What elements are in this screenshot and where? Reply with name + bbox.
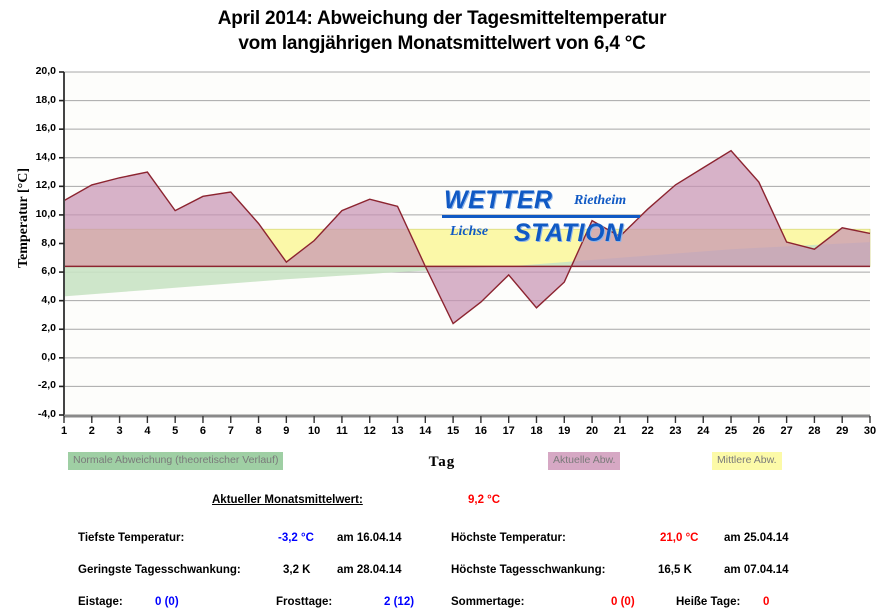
min-range-date: am 28.04.14: [337, 562, 402, 578]
x-tick-day-25: 25: [719, 425, 743, 437]
min-temp-date: am 16.04.14: [337, 530, 402, 546]
x-tick-day-2: 2: [80, 425, 104, 437]
x-tick-day-7: 7: [219, 425, 243, 437]
x-tick-day-6: 6: [191, 425, 215, 437]
x-tick-day-19: 19: [552, 425, 576, 437]
monthly-mean-value: 9,2 °C: [468, 492, 500, 508]
max-range-value: 16,5 K: [658, 562, 692, 578]
title-line-1: April 2014: Abweichung der Tagesmittelte…: [0, 6, 884, 31]
max-temp-label: Höchste Temperatur:: [451, 530, 566, 546]
stat-row-monthly-mean: Aktueller Monatsmittelwert: 9,2 °C: [0, 492, 884, 512]
y-tick-7: 6,0: [12, 265, 56, 277]
summer-days-value: 0 (0): [611, 594, 635, 610]
x-tick-day-1: 1: [52, 425, 76, 437]
summer-days-label: Sommertage:: [451, 594, 525, 610]
x-tick-day-29: 29: [830, 425, 854, 437]
x-tick-day-9: 9: [274, 425, 298, 437]
chart-plot: [0, 58, 884, 430]
x-tick-day-26: 26: [747, 425, 771, 437]
y-tick-11: -2,0: [12, 379, 56, 391]
max-temp-date: am 25.04.14: [724, 530, 789, 546]
min-range-label: Geringste Tagesschwankung:: [78, 562, 241, 578]
x-tick-day-28: 28: [802, 425, 826, 437]
x-tick-day-24: 24: [691, 425, 715, 437]
x-tick-day-3: 3: [108, 425, 132, 437]
chart-area: Temperatur [°C] 20,018,016,014,012,010,0…: [0, 58, 884, 430]
x-tick-day-14: 14: [413, 425, 437, 437]
x-axis-title: Tag: [0, 454, 884, 471]
x-tick-day-30: 30: [858, 425, 882, 437]
x-tick-day-12: 12: [358, 425, 382, 437]
x-tick-day-21: 21: [608, 425, 632, 437]
y-tick-8: 4,0: [12, 294, 56, 306]
min-temp-label: Tiefste Temperatur:: [78, 530, 184, 546]
frost-days-label: Frosttage:: [276, 594, 332, 610]
y-tick-2: 16,0: [12, 122, 56, 134]
stat-row-temperature-extremes: Tiefste Temperatur: -3,2 °C am 16.04.14 …: [0, 530, 884, 550]
x-tick-day-20: 20: [580, 425, 604, 437]
frost-days-value: 2 (12): [384, 594, 414, 610]
statistics-panel: Aktueller Monatsmittelwert: 9,2 °C Tiefs…: [0, 492, 884, 613]
y-tick-5: 10,0: [12, 208, 56, 220]
monthly-mean-label: Aktueller Monatsmittelwert:: [212, 492, 363, 508]
min-range-value: 3,2 K: [283, 562, 311, 578]
x-tick-day-27: 27: [775, 425, 799, 437]
x-tick-day-15: 15: [441, 425, 465, 437]
x-tick-day-16: 16: [469, 425, 493, 437]
max-temp-value: 21,0 °C: [660, 530, 698, 546]
y-tick-6: 8,0: [12, 237, 56, 249]
ice-days-value: 0 (0): [155, 594, 179, 610]
max-range-label: Höchste Tagesschwankung:: [451, 562, 605, 578]
x-tick-day-4: 4: [135, 425, 159, 437]
y-tick-3: 14,0: [12, 151, 56, 163]
x-tick-day-17: 17: [497, 425, 521, 437]
y-tick-1: 18,0: [12, 94, 56, 106]
hot-days-value: 0: [763, 594, 769, 610]
x-tick-day-23: 23: [663, 425, 687, 437]
stat-row-day-counts: Eistage: 0 (0) Frosttage: 2 (12) Sommert…: [0, 594, 884, 614]
x-tick-day-22: 22: [636, 425, 660, 437]
x-tick-day-10: 10: [302, 425, 326, 437]
max-range-date: am 07.04.14: [724, 562, 789, 578]
ice-days-label: Eistage:: [78, 594, 123, 610]
x-tick-day-13: 13: [386, 425, 410, 437]
x-tick-day-18: 18: [524, 425, 548, 437]
y-tick-4: 12,0: [12, 179, 56, 191]
title-line-2: vom langjährigen Monatsmittelwert von 6,…: [0, 31, 884, 56]
min-temp-value: -3,2 °C: [278, 530, 314, 546]
x-tick-day-8: 8: [247, 425, 271, 437]
y-tick-9: 2,0: [12, 322, 56, 334]
chart-page: April 2014: Abweichung der Tagesmittelte…: [0, 0, 884, 613]
page-title: April 2014: Abweichung der Tagesmittelte…: [0, 6, 884, 56]
hot-days-label: Heiße Tage:: [676, 594, 740, 610]
y-tick-10: 0,0: [12, 351, 56, 363]
x-tick-day-11: 11: [330, 425, 354, 437]
y-tick-12: -4,0: [12, 408, 56, 420]
stat-row-daily-range: Geringste Tagesschwankung: 3,2 K am 28.0…: [0, 562, 884, 582]
y-tick-0: 20,0: [12, 65, 56, 77]
x-tick-day-5: 5: [163, 425, 187, 437]
